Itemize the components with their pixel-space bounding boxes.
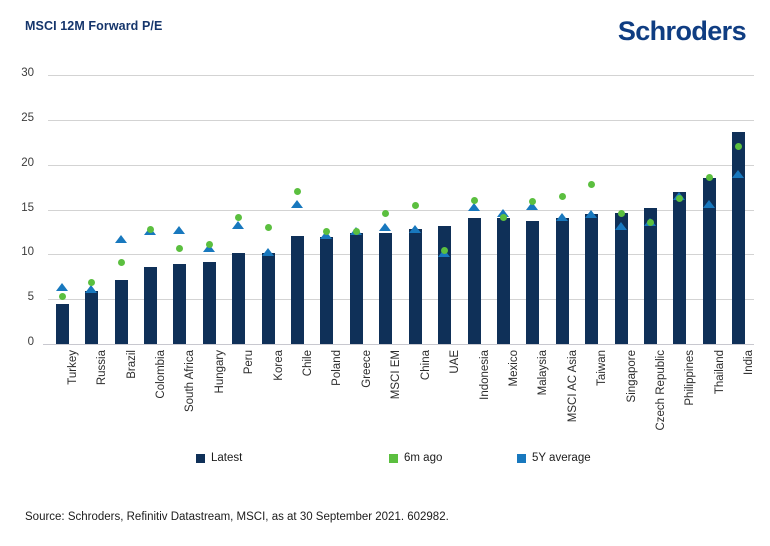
bar-group[interactable] (462, 75, 488, 344)
marker-5y-average[interactable] (556, 213, 568, 221)
bar-latest[interactable] (85, 291, 98, 344)
marker-5y-average[interactable] (409, 225, 421, 233)
marker-6m-ago[interactable] (353, 228, 360, 235)
x-axis-line (43, 344, 754, 345)
bar-latest[interactable] (379, 233, 392, 344)
legend-swatch-icon (389, 454, 398, 463)
x-axis-tick-label: Greece (361, 350, 373, 388)
legend-label: 6m ago (404, 452, 442, 464)
x-axis-labels: TurkeyRussiaBrazilColombiaSouth AfricaHu… (48, 348, 758, 448)
x-axis-tick-label: Turkey (67, 350, 79, 385)
chart-header: MSCI 12M Forward P/E Schroders (0, 0, 770, 62)
bar-group[interactable] (403, 75, 429, 344)
marker-6m-ago[interactable] (706, 174, 713, 181)
legend-item[interactable]: Latest (196, 452, 242, 464)
plot-area (48, 75, 754, 344)
x-axis-tick-label: Chile (302, 350, 314, 376)
x-axis-tick-label: Peru (243, 350, 255, 374)
marker-6m-ago[interactable] (382, 210, 389, 217)
marker-5y-average[interactable] (379, 223, 391, 231)
marker-6m-ago[interactable] (559, 193, 566, 200)
x-axis-tick: Indonesia (462, 350, 488, 446)
bar-latest[interactable] (585, 214, 598, 344)
x-axis-tick-label: India (743, 350, 755, 375)
x-axis-tick-label: Colombia (155, 350, 167, 399)
bar-group[interactable] (432, 75, 458, 344)
bar-latest[interactable] (644, 208, 657, 344)
marker-5y-average[interactable] (85, 285, 97, 293)
y-axis-tick: 25 (0, 112, 34, 124)
bar-latest[interactable] (350, 233, 363, 344)
x-axis-tick: Peru (226, 350, 252, 446)
x-axis-tick: Mexico (491, 350, 517, 446)
marker-6m-ago[interactable] (118, 259, 125, 266)
bar-group[interactable] (697, 75, 723, 344)
legend-item[interactable]: 6m ago (389, 452, 442, 464)
bar-group[interactable] (344, 75, 370, 344)
x-axis-tick: Hungary (197, 350, 223, 446)
bar-latest[interactable] (232, 253, 245, 344)
bar-group[interactable] (726, 75, 752, 344)
bar-latest[interactable] (115, 280, 128, 344)
marker-5y-average[interactable] (232, 221, 244, 229)
bar-latest[interactable] (526, 221, 539, 344)
marker-6m-ago[interactable] (147, 226, 154, 233)
marker-6m-ago[interactable] (88, 279, 95, 286)
x-axis-tick: MSCI AC Asia (550, 350, 576, 446)
bar-latest[interactable] (409, 229, 422, 344)
chart-legend: Latest6m ago5Y average (0, 452, 770, 474)
bar-latest[interactable] (144, 267, 157, 344)
marker-6m-ago[interactable] (265, 224, 272, 231)
marker-6m-ago[interactable] (412, 202, 419, 209)
marker-6m-ago[interactable] (294, 188, 301, 195)
legend-item[interactable]: 5Y average (517, 452, 591, 464)
bar-group[interactable] (285, 75, 311, 344)
bar-group[interactable] (314, 75, 340, 344)
bar-latest[interactable] (438, 226, 451, 344)
bar-group[interactable] (226, 75, 252, 344)
x-axis-tick: Korea (256, 350, 282, 446)
bar-group[interactable] (138, 75, 164, 344)
bar-latest[interactable] (291, 236, 304, 344)
marker-5y-average[interactable] (732, 170, 744, 178)
y-axis-tick: 20 (0, 157, 34, 169)
bar-latest[interactable] (497, 218, 510, 344)
legend-label: 5Y average (532, 452, 591, 464)
bar-latest[interactable] (556, 218, 569, 344)
y-axis-tick: 0 (0, 336, 34, 348)
x-axis-tick-label: Brazil (126, 350, 138, 379)
bar-group[interactable] (197, 75, 223, 344)
bar-latest[interactable] (673, 192, 686, 344)
x-axis-tick-label: Poland (331, 350, 343, 386)
marker-6m-ago[interactable] (618, 210, 625, 217)
x-axis-tick-label: MSCI EM (390, 350, 402, 399)
x-axis-tick: Czech Republic (638, 350, 664, 446)
marker-5y-average[interactable] (585, 210, 597, 218)
bar-latest[interactable] (615, 213, 628, 344)
bar-group[interactable] (491, 75, 517, 344)
x-axis-tick: Poland (314, 350, 340, 446)
x-axis-tick-label: Philippines (684, 350, 696, 406)
bar-latest[interactable] (262, 253, 275, 344)
x-axis-tick-label: Thailand (714, 350, 726, 394)
x-axis-tick: South Africa (167, 350, 193, 446)
x-axis-tick-label: Indonesia (479, 350, 491, 400)
x-axis-tick: MSCI EM (373, 350, 399, 446)
x-axis-tick: Greece (344, 350, 370, 446)
bar-group[interactable] (109, 75, 135, 344)
marker-5y-average[interactable] (703, 200, 715, 208)
x-axis-tick: UAE (432, 350, 458, 446)
marker-5y-average[interactable] (173, 226, 185, 234)
x-axis-tick-label: Singapore (626, 350, 638, 402)
marker-5y-average[interactable] (56, 283, 68, 291)
bar-group[interactable] (256, 75, 282, 344)
bar-latest[interactable] (56, 304, 69, 344)
bar-latest[interactable] (173, 264, 186, 344)
bar-group[interactable] (579, 75, 605, 344)
bar-group[interactable] (373, 75, 399, 344)
bar-group[interactable] (638, 75, 664, 344)
bar-group[interactable] (667, 75, 693, 344)
legend-label: Latest (211, 452, 242, 464)
schroders-logo: Schroders (618, 18, 746, 45)
x-axis-tick-label: China (420, 350, 432, 380)
x-axis-tick-label: Czech Republic (655, 350, 667, 431)
bar-group[interactable] (520, 75, 546, 344)
x-axis-tick-label: Mexico (508, 350, 520, 386)
y-axis-tick: 15 (0, 202, 34, 214)
marker-6m-ago[interactable] (176, 245, 183, 252)
x-axis-tick: Philippines (667, 350, 693, 446)
x-axis-tick: Russia (79, 350, 105, 446)
y-axis-tick: 5 (0, 291, 34, 303)
marker-6m-ago[interactable] (471, 197, 478, 204)
y-axis-tick: 30 (0, 67, 34, 79)
page-title: MSCI 12M Forward P/E (25, 19, 162, 33)
bar-latest[interactable] (732, 132, 745, 345)
bar-group[interactable] (550, 75, 576, 344)
x-axis-tick: China (403, 350, 429, 446)
x-axis-tick: Colombia (138, 350, 164, 446)
bar-latest[interactable] (468, 218, 481, 344)
x-axis-tick-label: UAE (449, 350, 461, 374)
bar-latest[interactable] (203, 262, 216, 344)
x-axis-tick-label: Taiwan (596, 350, 608, 386)
marker-5y-average[interactable] (615, 222, 627, 230)
bar-group[interactable] (609, 75, 635, 344)
x-axis-tick-label: Hungary (214, 350, 226, 393)
marker-6m-ago[interactable] (500, 214, 507, 221)
x-axis-tick-label: MSCI AC Asia (567, 350, 579, 422)
x-axis-tick: India (726, 350, 752, 446)
x-axis-tick: Chile (285, 350, 311, 446)
x-axis-tick: Malaysia (520, 350, 546, 446)
marker-5y-average[interactable] (115, 235, 127, 243)
legend-swatch-icon (196, 454, 205, 463)
bar-group[interactable] (167, 75, 193, 344)
y-axis-labels: 051015202530 (0, 75, 44, 350)
x-axis-tick-label: Korea (273, 350, 285, 381)
source-note: Source: Schroders, Refinitiv Datastream,… (25, 511, 449, 523)
marker-6m-ago[interactable] (588, 181, 595, 188)
bar-latest[interactable] (320, 237, 333, 344)
marker-6m-ago[interactable] (206, 241, 213, 248)
x-axis-tick: Taiwan (579, 350, 605, 446)
bar-group[interactable] (50, 75, 76, 344)
x-axis-tick: Brazil (109, 350, 135, 446)
marker-5y-average[interactable] (262, 248, 274, 256)
x-axis-tick: Singapore (609, 350, 635, 446)
x-axis-tick-label: Russia (96, 350, 108, 385)
x-axis-tick: Thailand (697, 350, 723, 446)
marker-6m-ago[interactable] (59, 293, 66, 300)
bar-group[interactable] (79, 75, 105, 344)
x-axis-tick: Turkey (50, 350, 76, 446)
y-axis-tick: 10 (0, 246, 34, 258)
marker-5y-average[interactable] (291, 200, 303, 208)
x-axis-tick-label: Malaysia (537, 350, 549, 395)
x-axis-tick-label: South Africa (184, 350, 196, 412)
legend-swatch-icon (517, 454, 526, 463)
